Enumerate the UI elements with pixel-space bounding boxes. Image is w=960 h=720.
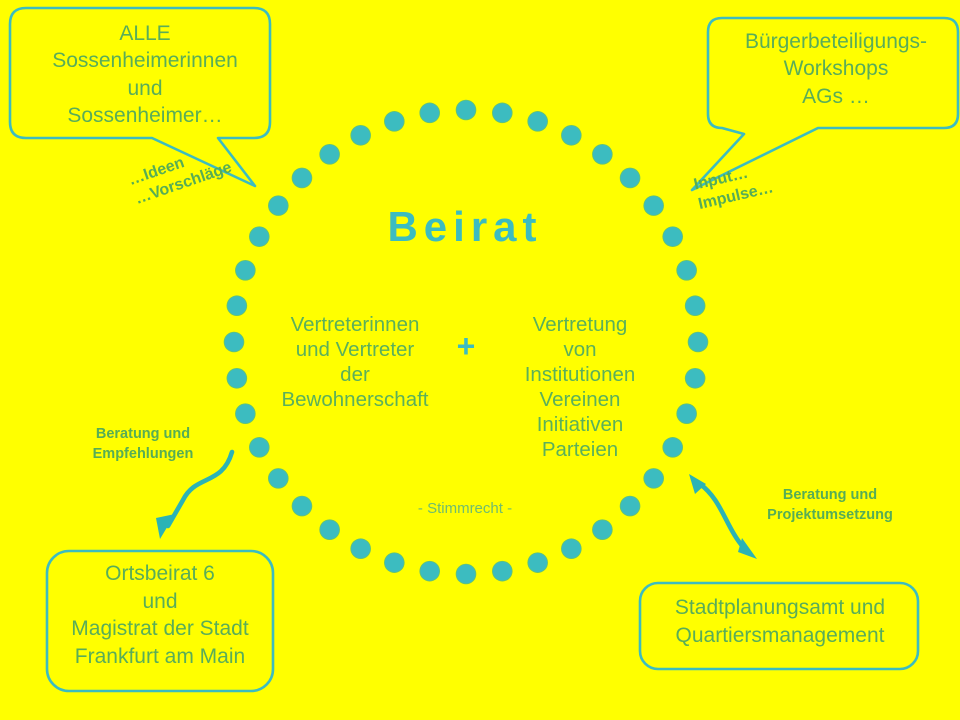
ring-dot	[420, 562, 439, 581]
ring-dot	[493, 562, 512, 581]
ring-dot-halo	[384, 552, 405, 573]
ring-dot-halo	[350, 538, 371, 559]
ring-dot	[562, 126, 581, 145]
ring-dot-halo	[561, 125, 582, 146]
ring-dot-halo	[688, 332, 709, 353]
ring-dot	[351, 539, 370, 558]
annotation-ideen-vorschlaege: …Ideen …Vorschläge	[126, 139, 235, 211]
ring-dot-halo	[456, 564, 477, 585]
box-left-text: Ortsbeirat 6 und Magistrat der Stadt Fra…	[52, 560, 268, 671]
ring-dot	[227, 369, 246, 388]
ring-dot-halo	[235, 403, 256, 424]
center-column-right: Vertretung von Institutionen Vereinen In…	[490, 312, 670, 462]
ring-dot	[351, 126, 370, 145]
ring-dot	[269, 196, 288, 215]
ring-dot	[621, 497, 640, 516]
ring-dot	[320, 145, 339, 164]
ring-dot-halo	[685, 295, 706, 316]
speech-bubble-left-text: ALLE Sossenheimerinnen und Sossenheimer…	[20, 20, 270, 129]
ring-dot	[528, 553, 547, 572]
ring-dot	[385, 553, 404, 572]
ring-dot	[292, 497, 311, 516]
center-footnote: - Stimmrecht -	[370, 500, 560, 518]
arrow-label-left: Beratung und Empfehlungen	[68, 425, 218, 464]
diagram-canvas: ALLE Sossenheimerinnen und Sossenheimer……	[0, 0, 960, 720]
ring-dot-halo	[419, 103, 440, 124]
ring-dot	[677, 261, 696, 280]
ring-dot-halo	[492, 561, 513, 582]
ring-dot-halo	[350, 125, 371, 146]
ring-dot	[686, 369, 705, 388]
ring-dot-halo	[592, 519, 613, 540]
ring-dot	[644, 469, 663, 488]
arrow-left-curved	[156, 452, 232, 539]
ring-dot	[621, 168, 640, 187]
ring-dot	[269, 469, 288, 488]
ring-dot	[593, 520, 612, 539]
ring-dot	[292, 168, 311, 187]
annotation-input-impulse: Input… Impulse…	[692, 159, 776, 216]
ring-dot-halo	[224, 332, 245, 353]
ring-dot	[686, 296, 705, 315]
ring-dot-halo	[268, 468, 289, 489]
ring-dot	[677, 404, 696, 423]
ring-dot	[236, 261, 255, 280]
ring-dot	[225, 333, 244, 352]
ring-dot	[250, 227, 269, 246]
ring-dot-halo	[527, 552, 548, 573]
ring-dot-halo	[235, 260, 256, 281]
page-title: Beirat	[300, 203, 630, 251]
ring-dot-halo	[227, 368, 248, 389]
ring-dot	[528, 112, 547, 131]
ring-dot-halo	[249, 226, 270, 247]
plus-icon: +	[446, 330, 486, 362]
ring-dot-halo	[561, 538, 582, 559]
ring-dot	[320, 520, 339, 539]
ring-dot-halo	[676, 260, 697, 281]
ring-dot-halo	[685, 368, 706, 389]
ring-dot-halo	[319, 519, 340, 540]
ring-dot	[457, 565, 476, 584]
ring-dot	[457, 101, 476, 120]
ring-dot-halo	[527, 111, 548, 132]
ring-dot-halo	[227, 295, 248, 316]
ring-dot-halo	[419, 561, 440, 582]
ring-dot-halo	[249, 437, 270, 458]
ring-dot	[562, 539, 581, 558]
ring-dot-halo	[643, 195, 664, 216]
ring-dot	[689, 333, 708, 352]
box-right-text: Stadtplanungsamt und Quartiersmanagement	[646, 594, 914, 649]
ring-dot	[250, 438, 269, 457]
ring-dot-halo	[620, 168, 641, 189]
ring-dot-halo	[676, 403, 697, 424]
ring-dot-halo	[643, 468, 664, 489]
ring-dot-halo	[662, 226, 683, 247]
ring-dot	[663, 227, 682, 246]
arrow-label-right: Beratung und Projektumsetzung	[740, 486, 920, 525]
ring-dot	[644, 196, 663, 215]
ring-dot-halo	[292, 168, 313, 189]
ring-dot	[493, 103, 512, 122]
ring-dot-halo	[620, 496, 641, 517]
ring-dot-halo	[592, 144, 613, 165]
ring-dot	[227, 296, 246, 315]
ring-dot	[385, 112, 404, 131]
ring-dot-halo	[456, 100, 477, 121]
ring-dot	[420, 103, 439, 122]
ring-dot-halo	[492, 103, 513, 124]
ring-dot	[236, 404, 255, 423]
speech-bubble-right-text: Bürgerbeteiligungs- Workshops AGs …	[712, 28, 960, 110]
ring-dot-halo	[319, 144, 340, 165]
ring-dot-halo	[384, 111, 405, 132]
ring-dot	[593, 145, 612, 164]
ring-dot-halo	[268, 195, 289, 216]
center-column-left: Vertreterinnen und Vertreter der Bewohne…	[265, 312, 445, 412]
ring-dot-halo	[292, 496, 313, 517]
